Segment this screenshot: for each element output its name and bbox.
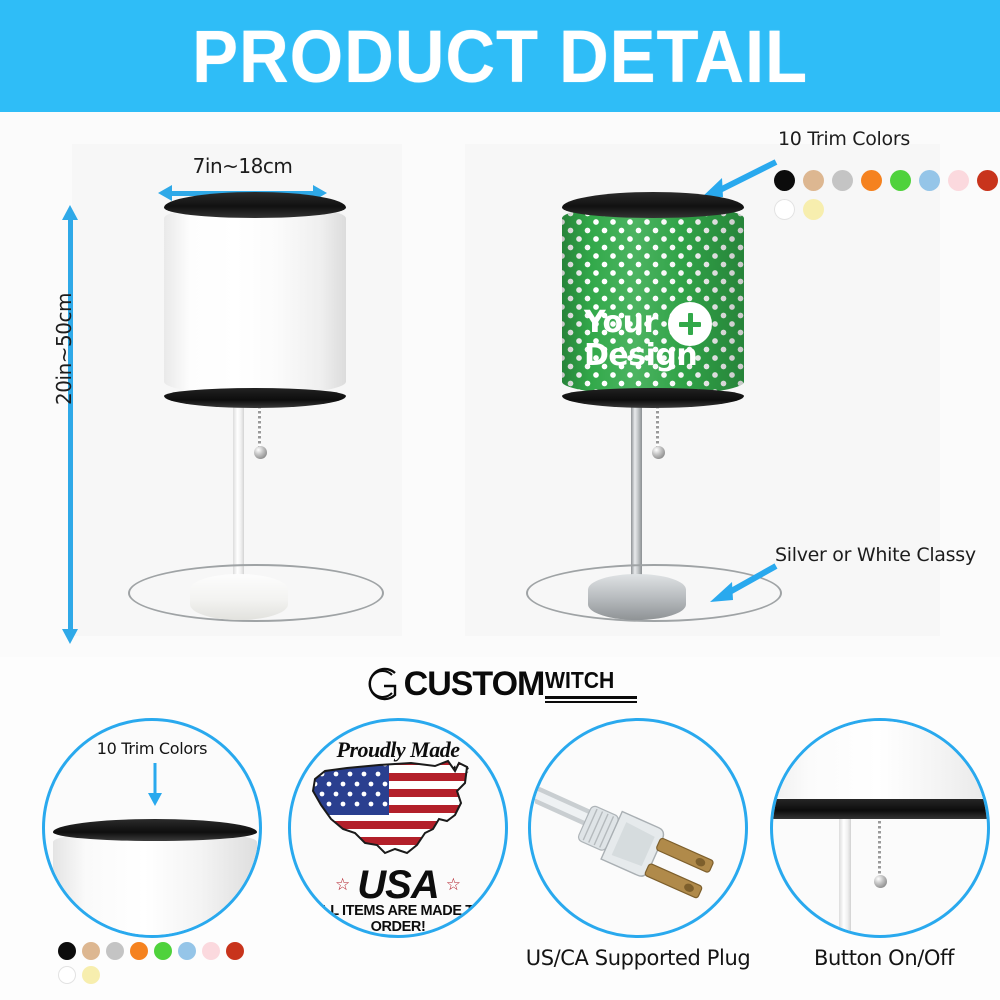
trim-swatch-yellow[interactable] [803,199,824,220]
logo-secondary-text: WITCH [545,667,630,694]
c-circle-icon [363,664,403,704]
feature-plug-circle [528,718,748,938]
green-lamp-base [588,574,686,620]
arrow-down-icon [62,629,78,644]
shade-surface [164,205,346,395]
trim-swatch-orange[interactable] [130,942,148,960]
trim-swatch-tan[interactable] [803,170,824,191]
feature-panels: 10 Trim Colors Proudly Made in the [0,712,1000,1000]
shade-top-trim [53,819,257,841]
white-lamp-base [190,574,288,620]
plus-circle-icon[interactable] [668,302,712,346]
usa-badge-sub-text: ALL ITEMS ARE MADE TO ORDER! [291,903,505,935]
feature-button-label: Button On/Off [770,946,998,970]
trim-swatch-yellow[interactable] [82,966,100,984]
pull-chain-icon[interactable] [255,406,265,448]
feature-made-in-usa: Proudly Made in the [288,718,516,1000]
your-design-placeholder[interactable]: Your Design [562,306,744,372]
trim-swatch-orange[interactable] [861,170,882,191]
arrow-up-icon [62,205,78,220]
trim-swatch-tan[interactable] [82,942,100,960]
trim-colors-callout-label: 10 Trim Colors [778,128,910,150]
logo-primary-text: CUSTOM [404,665,545,704]
trim-swatch-pink[interactable] [948,170,969,191]
trim-colors-swatches-top [774,170,1000,220]
trim-swatch-light-blue[interactable] [919,170,940,191]
shade-bottom-trim [770,799,990,819]
height-dimension-label: 20in~50cm [52,269,76,429]
trim-swatch-gray[interactable] [106,942,124,960]
shade-surface [53,831,257,938]
header-banner: PRODUCT DETAIL [0,0,1000,112]
silver-or-white-callout-arrow-icon [700,560,780,606]
design-line-2: Design [584,339,744,372]
trim-swatch-black[interactable] [58,942,76,960]
lamp-pole [839,819,851,938]
trim-swatch-gray[interactable] [832,170,853,191]
pull-chain-icon[interactable] [653,406,663,448]
pull-chain-icon[interactable] [875,821,885,877]
logo-underline-thick [545,696,637,699]
shade-top-trim [164,192,346,218]
white-lamp-shade [164,192,346,408]
logo-underline-thin [545,701,637,703]
feature-trim-colors-inner-label: 10 Trim Colors [45,739,259,758]
width-dimension-label: 7in~18cm [160,154,325,178]
shade-bottom-trim [164,388,346,408]
design-line-1: Your [584,306,744,339]
logo-secondary-group: WITCH [545,667,637,703]
trim-swatch-white[interactable] [774,199,795,220]
green-lamp-shade: Your Design [562,192,744,408]
product-detail-page: PRODUCT DETAIL 7in~18cm 20in~50cm [0,0,1000,1000]
feature-button-circle [770,718,990,938]
trim-swatch-red[interactable] [977,170,998,191]
feature-made-in-usa-circle: Proudly Made in the [288,718,508,938]
feature-trim-colors-circle: 10 Trim Colors [42,718,262,938]
trim-swatch-red[interactable] [226,942,244,960]
down-arrow-icon [146,763,164,812]
trim-swatch-white[interactable] [58,966,76,984]
shade-surface [770,718,990,803]
power-plug-icon [535,771,747,906]
star-right-icon: ☆ [446,875,461,895]
brand-logo: CUSTOM WITCH [0,660,1000,708]
trim-swatch-green[interactable] [890,170,911,191]
trim-swatch-pink[interactable] [202,942,220,960]
trim-colors-swatches-bottom [58,942,258,984]
feature-trim-colors: 10 Trim Colors [42,718,270,1000]
usa-map-flag-icon [307,757,493,867]
usa-badge-main-text: USA [291,863,505,908]
shade-bottom-trim [562,388,744,408]
height-dimension: 20in~50cm [42,207,102,642]
trim-swatch-black[interactable] [774,170,795,191]
silver-or-white-callout-label: Silver or White Classy [775,544,976,566]
feature-button: Button On/Off [770,718,998,1000]
white-lamp [150,192,360,632]
page-title: PRODUCT DETAIL [192,14,808,99]
product-showcase: 7in~18cm 20in~50cm [0,112,1000,657]
feature-plug-label: US/CA Supported Plug [510,946,766,970]
shade-top-trim [562,192,744,218]
trim-swatch-light-blue[interactable] [178,942,196,960]
trim-swatch-green[interactable] [154,942,172,960]
feature-plug: US/CA Supported Plug [528,718,768,1000]
